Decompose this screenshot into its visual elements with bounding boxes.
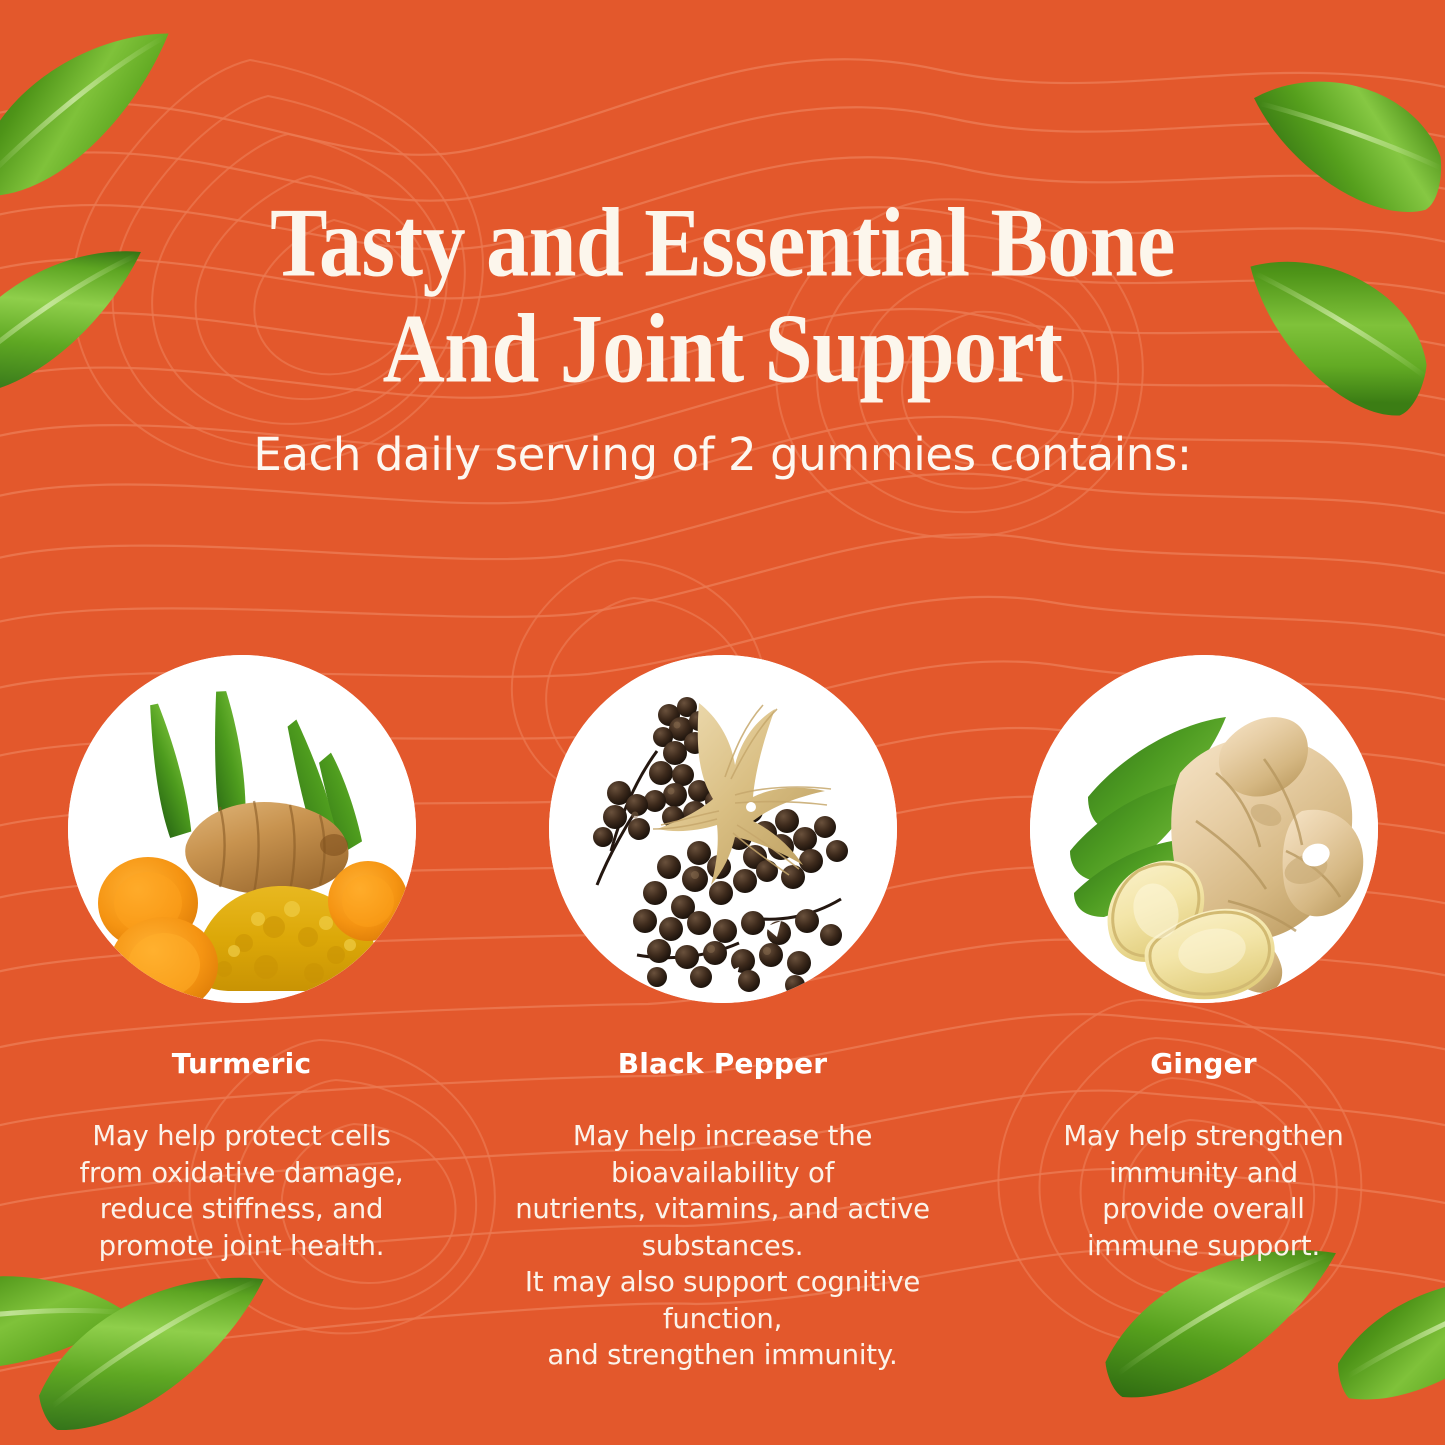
turmeric-photo-circle <box>68 655 416 1003</box>
ingredient-card-turmeric: Turmeric May help protect cells from oxi… <box>1 655 482 1374</box>
ingredient-description-turmeric: May help protect cells from oxidative da… <box>1 1118 482 1264</box>
black-peppercorn-clusters-photo <box>549 655 897 1003</box>
header-block: Tasty and Essential Bone And Joint Suppo… <box>0 190 1445 481</box>
ginger-root-and-slices-photo <box>1030 655 1378 1003</box>
ingredient-name-turmeric: Turmeric <box>1 1047 482 1080</box>
ingredient-name-ginger: Ginger <box>963 1047 1444 1080</box>
ingredient-card-ginger: Ginger May help strengthen immunity and … <box>963 655 1444 1374</box>
ginger-photo-circle <box>1030 655 1378 1003</box>
ingredient-description-black-pepper: May help increase the bioavailability of… <box>482 1118 963 1374</box>
page-title: Tasty and Essential Bone And Joint Suppo… <box>0 190 1445 402</box>
poster-canvas: Tasty and Essential Bone And Joint Suppo… <box>0 0 1445 1445</box>
ingredient-name-black-pepper: Black Pepper <box>482 1047 963 1080</box>
ingredient-card-black-pepper: Black Pepper May help increase the bioav… <box>482 655 963 1374</box>
ingredients-row: Turmeric May help protect cells from oxi… <box>0 655 1445 1374</box>
page-subtitle: Each daily serving of 2 gummies contains… <box>0 428 1445 481</box>
turmeric-root-slices-and-powder-photo <box>68 655 416 1003</box>
ingredient-description-ginger: May help strengthen immunity and provide… <box>963 1118 1444 1264</box>
black-pepper-photo-circle <box>549 655 897 1003</box>
